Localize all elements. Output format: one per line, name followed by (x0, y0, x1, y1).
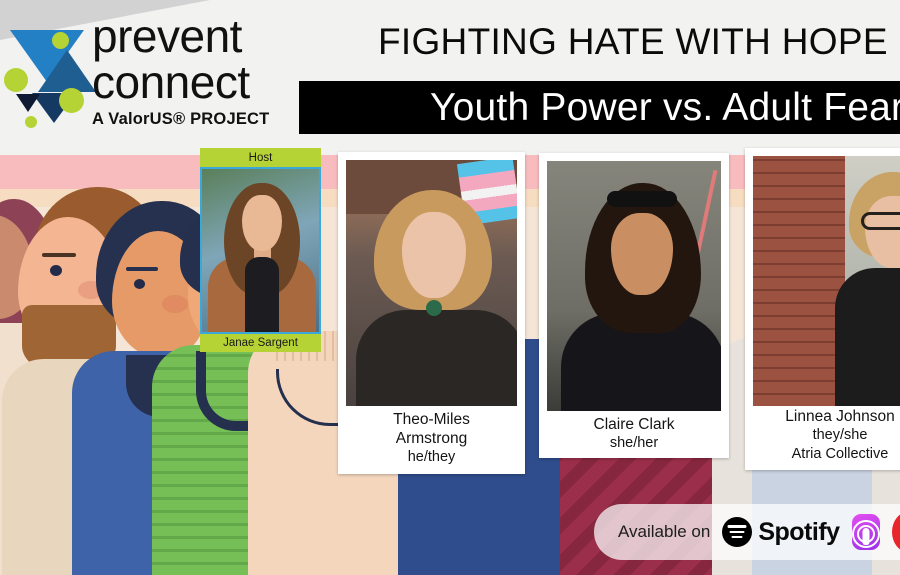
speaker-photo (753, 156, 900, 406)
host-name-label: Janae Sargent (200, 334, 321, 352)
speaker-name-line1: Linnea Johnson (749, 407, 900, 426)
speaker-label: Linnea Johnson they/she Atria Collective (745, 407, 900, 464)
podcast-availability-pill: Available on Spotify (594, 504, 900, 560)
speaker-org: Atria Collective (749, 445, 900, 464)
speaker-pronouns: he/they (342, 448, 521, 467)
spotify-icon (722, 517, 752, 547)
speaker-name-line1: Claire Clark (543, 415, 725, 434)
webinar-title-slide: prevent connect A ValorUS® PROJECT FIGHT… (0, 0, 900, 575)
red-podcast-icon[interactable] (892, 512, 900, 552)
page-title: FIGHTING HATE WITH HOPE (378, 22, 888, 62)
speaker-name-line2: Armstrong (342, 429, 521, 448)
available-on-label: Available on (618, 522, 710, 542)
page-subtitle: Youth Power vs. Adult Fear (430, 83, 900, 133)
speaker-pronouns: they/she (749, 426, 900, 445)
logo-tagline: A ValorUS® PROJECT (92, 109, 269, 129)
speaker-card-claire-clark: Claire Clark she/her (539, 153, 729, 458)
speaker-card-linnea-johnson: Linnea Johnson they/she Atria Collective (745, 148, 900, 470)
speaker-card-theo-miles-armstrong: Theo-Miles Armstrong he/they (338, 152, 525, 474)
speaker-pronouns: she/her (543, 434, 725, 453)
spotify-label: Spotify (758, 518, 839, 547)
spotify-button[interactable]: Spotify (722, 517, 839, 547)
speaker-name-line1: Theo-Miles (342, 410, 521, 429)
host-panel: Host Janae Sargent (200, 148, 321, 352)
speaker-photo (346, 160, 517, 406)
logo-word-connect: connect (92, 58, 269, 106)
host-tag-label: Host (200, 148, 321, 167)
apple-podcasts-icon[interactable] (852, 514, 881, 550)
speaker-label: Theo-Miles Armstrong he/they (338, 410, 525, 467)
host-photo (200, 167, 321, 334)
preventconnect-logo: prevent connect A ValorUS® PROJECT (8, 14, 276, 134)
speaker-label: Claire Clark she/her (539, 415, 729, 453)
logo-word-prevent: prevent (92, 14, 269, 58)
logo-mark-icon (8, 16, 86, 124)
speaker-photo (547, 161, 721, 411)
